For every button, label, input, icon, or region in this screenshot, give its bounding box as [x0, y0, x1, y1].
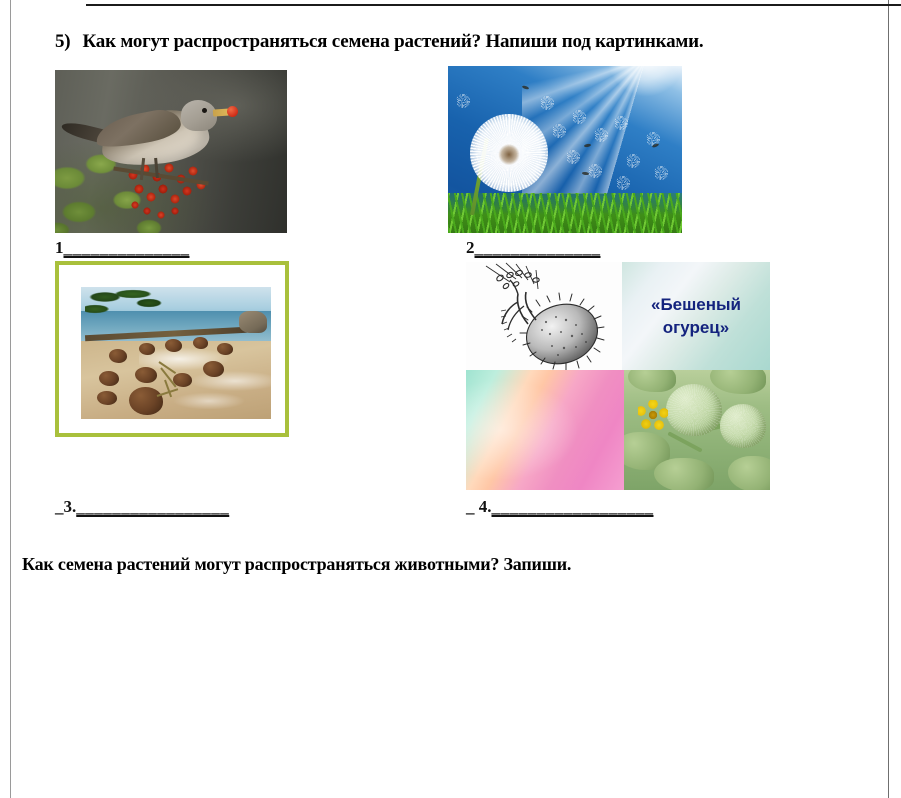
bird-eye [202, 108, 207, 113]
squirting-cucumber-title: «Бешеный огурец» [651, 293, 741, 339]
berry-in-beak [227, 106, 238, 117]
palm-foliage [85, 289, 163, 323]
flying-seed [654, 166, 668, 180]
flying-seed [566, 150, 580, 164]
coconut [203, 361, 224, 377]
cucumber-fruit [666, 384, 722, 436]
flying-seed [456, 94, 470, 108]
page-right-border [888, 0, 889, 798]
cucumber-drawing-svg [466, 262, 622, 370]
coconut [109, 349, 127, 363]
coconut [135, 367, 157, 383]
question-heading: 5)Как могут распространяться семена раст… [55, 31, 875, 53]
plant-leaf [728, 456, 770, 490]
page-top-rule [86, 4, 901, 6]
answer-label-2: 2 [466, 238, 475, 257]
coconut [139, 343, 155, 355]
flying-seed [572, 110, 586, 124]
title-line-2: огурец» [651, 316, 741, 339]
squirting-cucumber-composite: «Бешеный огурец» [466, 262, 770, 490]
pastel-gradient-panel [466, 370, 624, 490]
answer-label-4: _ 4. [466, 497, 492, 516]
yellow-flower [638, 400, 668, 430]
flying-seed [616, 176, 630, 190]
answer-blank-4[interactable]: __________________ [492, 497, 654, 516]
coconut-sprouting [129, 387, 163, 415]
title-line-1: «Бешеный [651, 293, 741, 316]
coconut [99, 371, 119, 386]
question-heading-text: Как могут распространяться семена растен… [82, 31, 703, 52]
question-number: 5) [55, 31, 70, 52]
flying-seed [626, 154, 640, 168]
answer-blank-1[interactable]: ______________ [64, 238, 190, 257]
squirting-cucumber-drawing [466, 262, 622, 370]
answer-label-1: 1 [55, 238, 64, 257]
answer-line-4[interactable]: _ 4.__________________ [466, 497, 654, 517]
answer-blank-2[interactable]: ______________ [475, 238, 601, 257]
bird-head [181, 100, 217, 131]
coconuts-on-beach-photo: Семена кокосовой пальмы [81, 287, 271, 419]
cucumber-fruit [720, 404, 766, 448]
flying-seed [614, 116, 628, 130]
answer-line-3[interactable]: _3._________________ [55, 497, 229, 517]
flying-seed [552, 124, 566, 138]
plant-leaf [710, 370, 766, 394]
bottom-question: Как семена растений могут распространять… [22, 554, 571, 575]
answer-line-1[interactable]: 1______________ [55, 238, 190, 258]
answer-blank-3[interactable]: _________________ [76, 497, 229, 516]
coconut [97, 391, 117, 405]
flying-seed [588, 164, 602, 178]
coconut [217, 343, 233, 355]
flying-seed [540, 96, 554, 110]
squirting-cucumber-title-panel: «Бешеный огурец» [622, 262, 770, 370]
answer-label-3: _3. [55, 497, 76, 516]
page-left-border [10, 0, 11, 798]
coconut-photo-frame: Семена кокосовой пальмы [55, 261, 289, 437]
plant-leaf [654, 458, 714, 490]
bird-eating-berries-photo [55, 70, 287, 233]
coconut [165, 339, 182, 352]
dandelion-seedhead [470, 114, 548, 192]
flying-seed [594, 128, 608, 142]
shore-rock [239, 311, 267, 333]
grass [448, 193, 682, 233]
squirting-cucumber-plant-photo [624, 370, 770, 490]
coconut [193, 337, 208, 349]
dandelion-seeds-wind-photo [448, 66, 682, 233]
plant-leaf [628, 370, 676, 392]
answer-line-2[interactable]: 2______________ [466, 238, 601, 258]
